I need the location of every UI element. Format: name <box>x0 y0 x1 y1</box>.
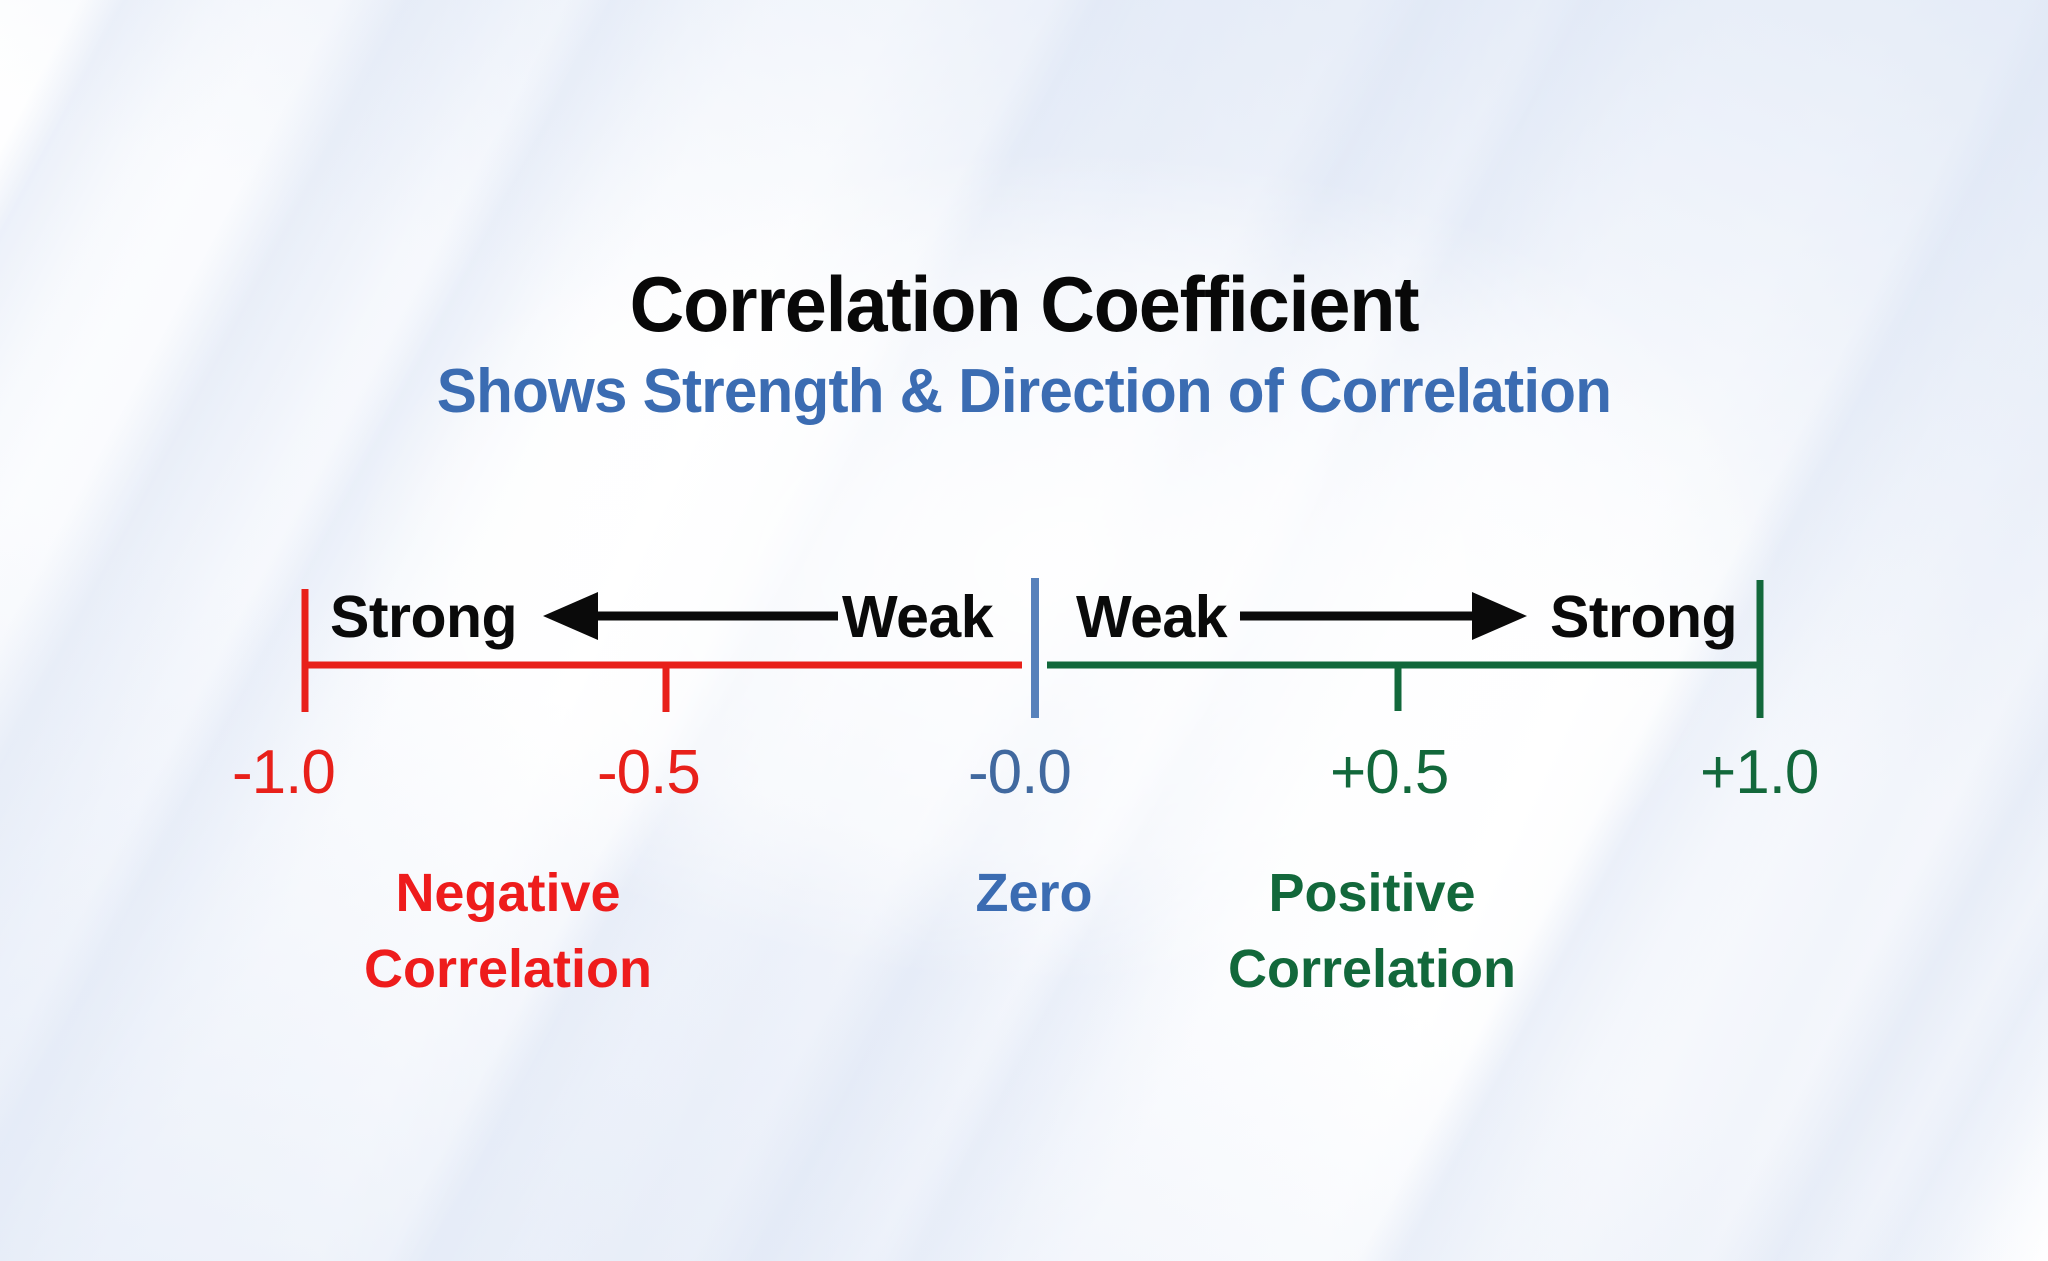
label-weak-positive: Weak <box>1076 588 1227 647</box>
axis-value-minus-1: -1.0 <box>232 742 335 804</box>
caption-positive-line-1: Positive <box>1165 855 1579 931</box>
label-weak-negative: Weak <box>842 588 993 647</box>
caption-positive-line-2: Correlation <box>1165 931 1579 1007</box>
caption-negative-line-2: Correlation <box>330 931 686 1007</box>
caption-negative-line-1: Negative <box>330 855 686 931</box>
axis-value-zero: -0.0 <box>968 742 1071 804</box>
axis-value-minus-0-5: -0.5 <box>597 742 700 804</box>
caption-negative-correlation: Negative Correlation <box>330 855 686 1007</box>
label-strong-negative: Strong <box>330 588 517 647</box>
caption-zero: Zero <box>925 855 1143 931</box>
negative-direction-arrow-icon <box>543 592 838 640</box>
axis-value-plus-0-5: +0.5 <box>1330 742 1448 804</box>
infographic-canvas: Correlation Coefficient Shows Strength &… <box>0 0 2048 1261</box>
correlation-scale-diagram <box>0 0 2048 1261</box>
label-strong-positive: Strong <box>1550 588 1737 647</box>
positive-direction-arrow-icon <box>1240 592 1527 640</box>
caption-zero-line-1: Zero <box>925 855 1143 931</box>
caption-positive-correlation: Positive Correlation <box>1165 855 1579 1007</box>
axis-value-plus-1: +1.0 <box>1700 742 1818 804</box>
